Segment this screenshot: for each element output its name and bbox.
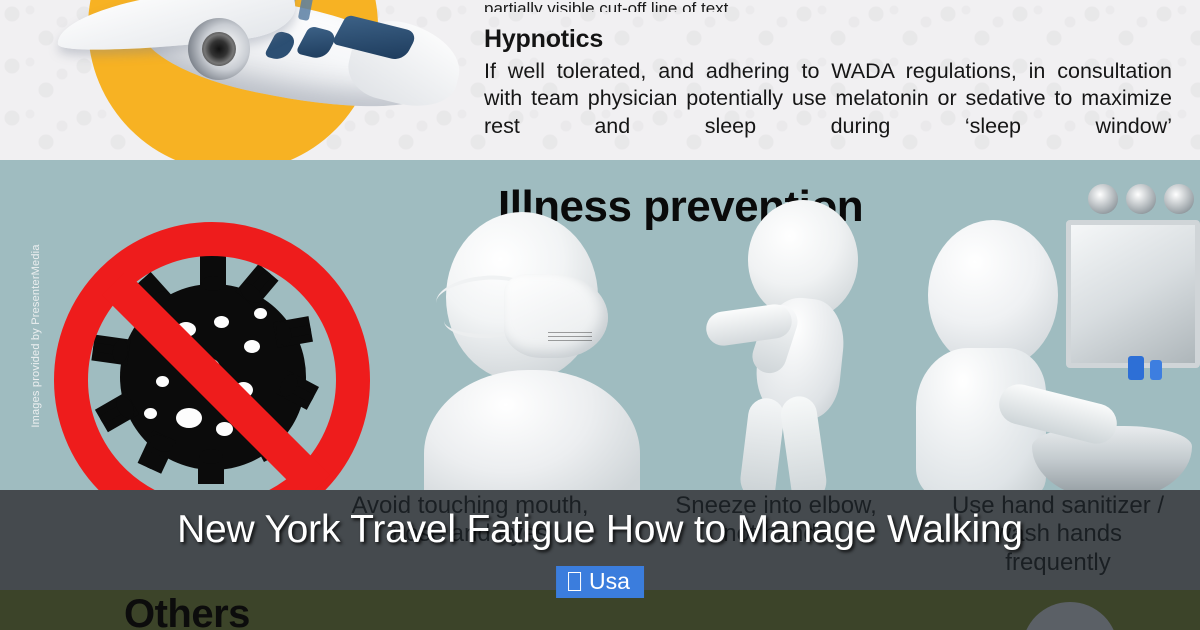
image-credit-label: Images provided by PresenterMedia <box>30 206 42 466</box>
figure-torso <box>424 370 640 490</box>
airplane-illustration <box>20 0 450 160</box>
soap-bottle <box>1128 356 1144 380</box>
face-mask <box>504 274 608 358</box>
hypnotics-body-text: If well tolerated, and adhering to WADA … <box>484 58 1172 140</box>
page-title: New York Travel Fatigue How to Manage Wa… <box>0 508 1200 552</box>
country-badge[interactable]: Usa <box>556 566 644 598</box>
others-decorative-circle <box>1022 602 1118 630</box>
section-illness-prevention: Illness prevention <box>0 160 1200 490</box>
no-virus-icon <box>48 222 388 490</box>
country-badge-label: Usa <box>589 568 630 595</box>
section-hypnotics: partially visible cut-off line of text H… <box>0 0 1200 160</box>
figure-wearing-mask-icon <box>424 212 644 490</box>
vanity-lamp-1 <box>1088 184 1118 214</box>
figure-sneezing-icon <box>700 200 880 490</box>
clipped-text-line: partially visible cut-off line of text <box>484 0 1172 12</box>
figure-washing-hands-icon <box>910 180 1200 490</box>
figure-leg-left <box>738 396 786 490</box>
mask-printed-label <box>548 332 592 344</box>
flag-icon <box>568 572 581 591</box>
vanity-lamp-3 <box>1164 184 1194 214</box>
toothbrush-cup <box>1150 360 1162 380</box>
hypnotics-heading: Hypnotics <box>484 25 1172 54</box>
hypnotics-text-block: partially visible cut-off line of text H… <box>484 0 1172 140</box>
infographic-preview: partially visible cut-off line of text H… <box>0 0 1200 630</box>
bathroom-mirror <box>1066 220 1200 368</box>
others-heading: Others <box>124 592 250 630</box>
vanity-lamp-2 <box>1126 184 1156 214</box>
